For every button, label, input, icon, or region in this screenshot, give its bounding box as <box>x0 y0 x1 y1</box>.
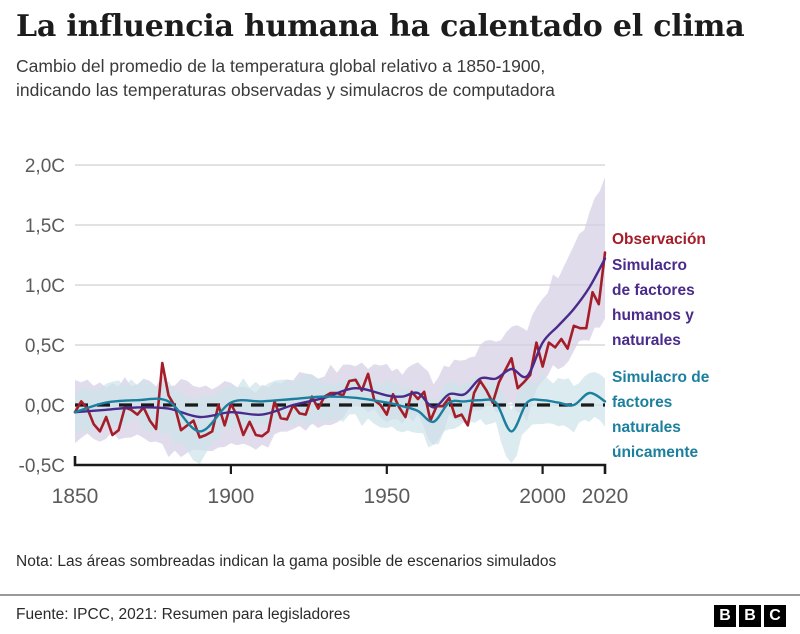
legend-item-observed[interactable]: Observación <box>612 231 706 248</box>
legend-item-human_natural[interactable]: Simulacrode factoreshumanos ynaturales <box>612 257 695 349</box>
uncertainty-bands <box>75 177 605 464</box>
y-axis-label-1,5C: 1,5C <box>25 216 65 237</box>
bbc-logo-letter-1: B <box>714 605 736 627</box>
legend-label-natural_only-line-2: factores <box>612 394 672 411</box>
chart-subtitle: Cambio del promedio de la temperatura gl… <box>16 54 576 102</box>
y-axis-label-0,5C: 0,5C <box>25 336 65 357</box>
uncertainty-band-natural_only <box>75 372 605 464</box>
y-axis-label--0,5C: -0,5C <box>19 456 65 477</box>
legend-label-natural_only-line-4: únicamente <box>612 444 699 461</box>
legend-label-human_natural-line-2: de factores <box>612 282 695 299</box>
bbc-logo-letter-3: C <box>764 605 786 627</box>
y-axis-label-1,0C: 1,0C <box>25 276 65 297</box>
page-title: La influencia humana ha calentado el cli… <box>16 10 784 44</box>
temperature-line-chart: -0,5C0,0C0,5C1,0C1,5C2,0C185019001950200… <box>0 148 800 528</box>
chart-page: La influencia humana ha calentado el cli… <box>0 0 800 634</box>
chart-legend: ObservaciónSimulacrode factoreshumanos y… <box>612 231 710 461</box>
y-axis-label-0,0C: 0,0C <box>25 396 65 417</box>
legend-label-natural_only-line-1: Simulacro de <box>612 369 710 386</box>
x-axis-label-1900: 1900 <box>208 485 255 508</box>
footer-divider <box>0 594 800 596</box>
x-axis-line <box>75 456 605 474</box>
y-axis-label-2,0C: 2,0C <box>25 156 65 177</box>
legend-label-human_natural-line-3: humanos y <box>612 307 694 324</box>
legend-label-human_natural-line-4: naturales <box>612 332 681 349</box>
x-axis-label-2020: 2020 <box>582 485 629 508</box>
x-axis-label-2000: 2000 <box>519 485 566 508</box>
bbc-logo-letter-2: B <box>739 605 761 627</box>
legend-label-observed-line-1: Observación <box>612 231 706 248</box>
chart-note: Nota: Las áreas sombreadas indican la ga… <box>16 552 556 572</box>
bbc-logo: B B C <box>714 605 786 627</box>
x-axis-label-1850: 1850 <box>52 485 99 508</box>
legend-item-natural_only[interactable]: Simulacro defactoresnaturalesúnicamente <box>612 369 710 461</box>
footer-source-row: Fuente: IPCC, 2021: Resumen para legisla… <box>0 600 800 634</box>
legend-label-human_natural-line-1: Simulacro <box>612 257 687 274</box>
chart-plot-area: -0,5C0,0C0,5C1,0C1,5C2,0C185019001950200… <box>0 148 800 528</box>
legend-label-natural_only-line-3: naturales <box>612 419 681 436</box>
source-text: Fuente: IPCC, 2021: Resumen para legisla… <box>16 606 350 624</box>
chart-header: La influencia humana ha calentado el cli… <box>0 0 800 102</box>
x-axis-label-1950: 1950 <box>363 485 410 508</box>
